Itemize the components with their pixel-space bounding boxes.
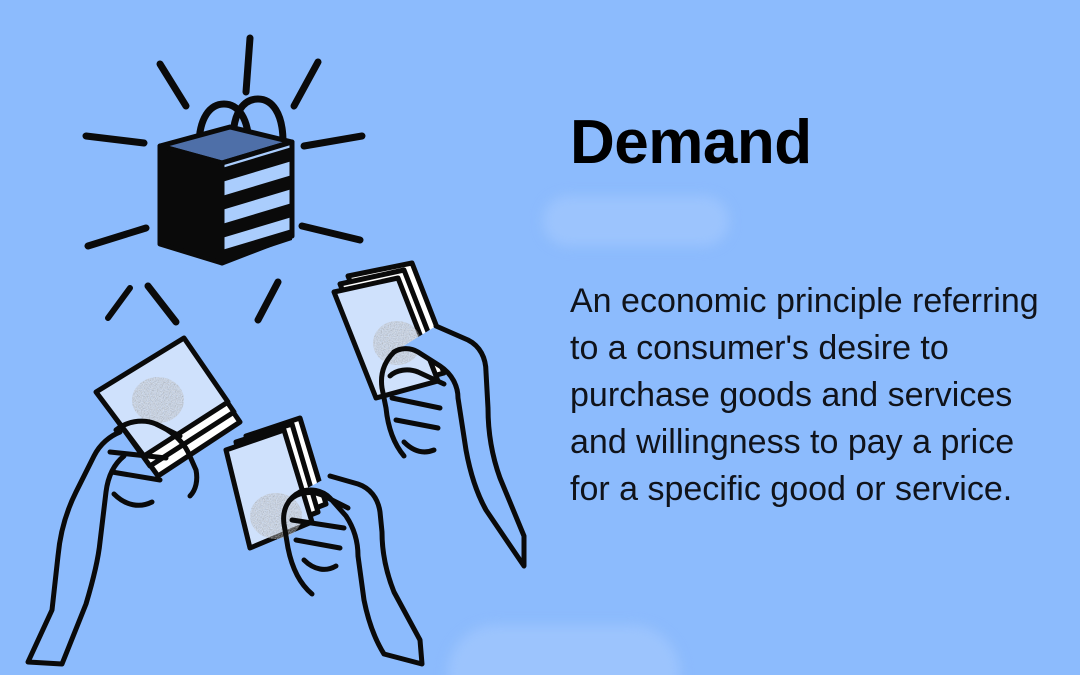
hand-center-finger-2 [296, 540, 340, 548]
hand-right-finger-3 [404, 442, 434, 452]
hand-left-finger-3 [114, 494, 152, 505]
banknote-center-portrait [250, 493, 302, 539]
hand-center-holding-money [226, 418, 422, 664]
definition-text: An economic principle referring to a con… [570, 278, 1048, 513]
sparkle-line-sse [258, 282, 278, 320]
sparkle-line-w [86, 136, 144, 143]
shopping-bag-icon [160, 99, 292, 263]
banknote-stack-center [226, 418, 326, 548]
hand-right-finger-2 [396, 420, 438, 428]
hand-center-finger-3 [304, 560, 336, 569]
text-column: Demand An economic principle referring t… [570, 0, 1060, 675]
hand-left-holding-money [28, 338, 240, 664]
sparkle-line-ese [302, 226, 360, 240]
sparkle-line-nnw [160, 64, 186, 106]
sparkle-line-n [246, 38, 250, 92]
sparkle-line-e [304, 136, 362, 146]
sparkle-line-wsw [88, 228, 146, 246]
sparkle-line-s [108, 288, 130, 318]
bag-side-panel [160, 146, 222, 263]
illustration-shopping-bag-and-hands [0, 0, 545, 675]
hand-left-outline [28, 432, 124, 664]
page-title: Demand [570, 112, 812, 174]
banknote-left-portrait [132, 377, 184, 423]
hand-left-finger-2 [112, 472, 160, 480]
slide-canvas: Demand An economic principle referring t… [0, 0, 1080, 675]
hand-right-finger-1 [392, 398, 440, 408]
sparkle-line-ssw [148, 286, 176, 322]
sparkle-line-nne [294, 62, 318, 106]
